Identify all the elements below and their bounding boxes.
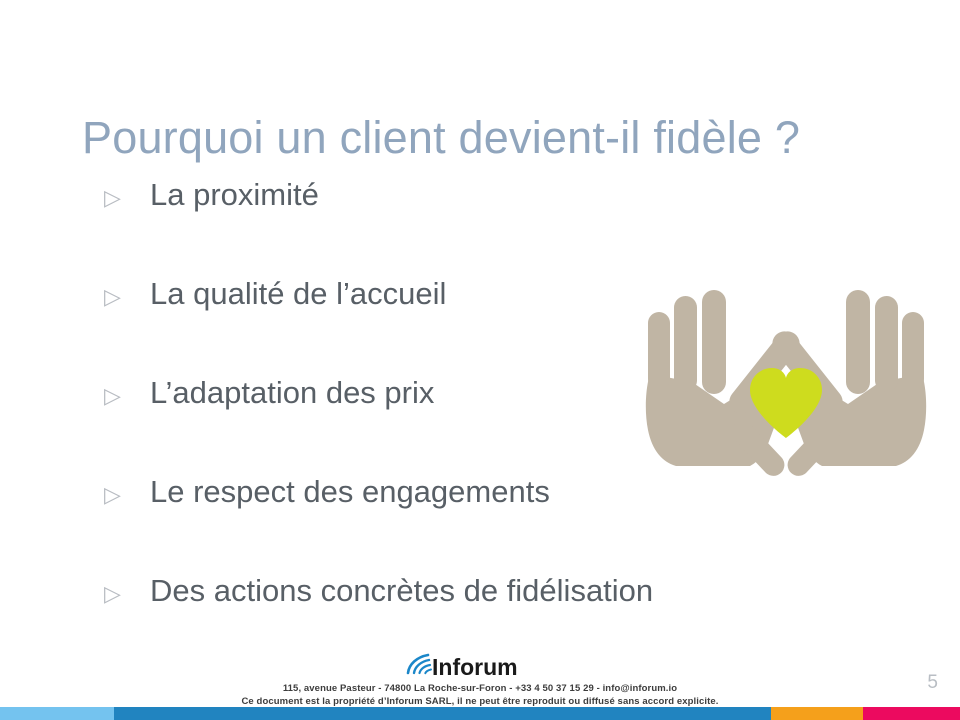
bar-segment-blue <box>114 707 771 720</box>
footer-text: 115, avenue Pasteur - 74800 La Roche-sur… <box>0 682 960 708</box>
inforum-logo: Inforum <box>406 651 554 681</box>
triangle-bullet-icon: ▷ <box>104 484 150 506</box>
list-item-label: Le respect des engagements <box>150 475 804 509</box>
slide: Pourquoi un client devient-il fidèle ? ▷… <box>0 0 960 720</box>
triangle-bullet-icon: ▷ <box>104 286 150 308</box>
triangle-bullet-icon: ▷ <box>104 583 150 605</box>
list-item: ▷ Le respect des engagements <box>104 475 804 574</box>
page-number: 5 <box>927 672 938 694</box>
footer-address-line: 115, avenue Pasteur - 74800 La Roche-sur… <box>0 682 960 695</box>
bottom-color-bar <box>0 707 960 720</box>
hands-heart-illustration <box>632 282 940 478</box>
list-item-label: La proximité <box>150 178 804 212</box>
bar-segment-light-blue <box>0 707 114 720</box>
logo-wordmark: Inforum <box>432 654 518 680</box>
list-item-label: Des actions concrètes de fidélisation <box>150 574 804 608</box>
bar-segment-pink <box>863 707 960 720</box>
triangle-bullet-icon: ▷ <box>104 385 150 407</box>
swoosh-icon <box>408 655 431 673</box>
bar-segment-orange <box>771 707 863 720</box>
list-item: ▷ La proximité <box>104 178 804 277</box>
page-title: Pourquoi un client devient-il fidèle ? <box>82 112 902 164</box>
triangle-bullet-icon: ▷ <box>104 187 150 209</box>
